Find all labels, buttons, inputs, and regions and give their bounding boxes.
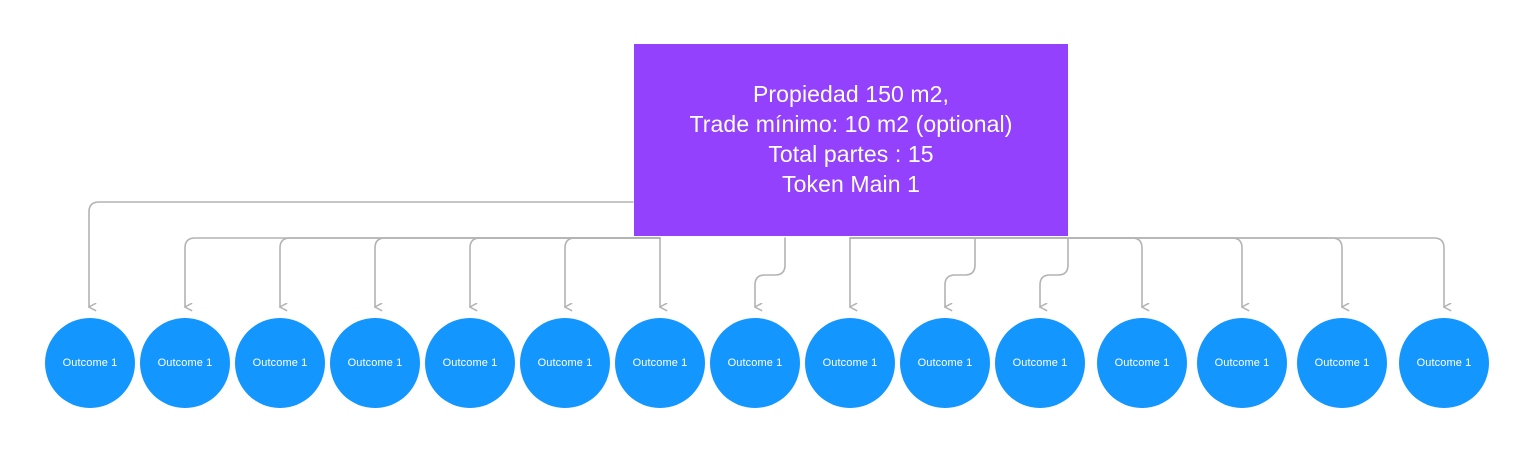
outcome-node-1[interactable]: Outcome 1 xyxy=(45,318,135,408)
outcome-node-15[interactable]: Outcome 1 xyxy=(1399,318,1489,408)
edge-to-outcome-14 xyxy=(850,238,1342,307)
outcome-node-label: Outcome 1 xyxy=(1417,357,1472,369)
outcome-node-label: Outcome 1 xyxy=(1013,357,1068,369)
edge-to-outcome-12 xyxy=(850,238,1142,307)
outcome-node-2[interactable]: Outcome 1 xyxy=(140,318,230,408)
edge-to-outcome-13 xyxy=(850,238,1242,307)
outcome-node-4[interactable]: Outcome 1 xyxy=(330,318,420,408)
edge-to-outcome-8 xyxy=(755,238,785,307)
edge-to-outcome-6 xyxy=(565,238,660,307)
outcome-node-label: Outcome 1 xyxy=(158,357,213,369)
property-token-line-3: Total partes : 15 xyxy=(768,140,933,170)
outcome-node-6[interactable]: Outcome 1 xyxy=(520,318,610,408)
outcome-node-10[interactable]: Outcome 1 xyxy=(900,318,990,408)
outcome-node-label: Outcome 1 xyxy=(443,357,498,369)
outcome-node-label: Outcome 1 xyxy=(1115,357,1170,369)
property-token-node[interactable]: Propiedad 150 m2,Trade mínimo: 10 m2 (op… xyxy=(634,44,1068,236)
outcome-node-label: Outcome 1 xyxy=(1215,357,1270,369)
outcome-node-label: Outcome 1 xyxy=(728,357,783,369)
edge-to-outcome-11 xyxy=(1040,238,1068,307)
outcome-node-label: Outcome 1 xyxy=(823,357,878,369)
outcome-node-12[interactable]: Outcome 1 xyxy=(1097,318,1187,408)
edge-to-outcome-2 xyxy=(185,238,660,307)
outcome-node-11[interactable]: Outcome 1 xyxy=(995,318,1085,408)
property-token-line-2: Trade mínimo: 10 m2 (optional) xyxy=(689,110,1012,140)
outcome-node-5[interactable]: Outcome 1 xyxy=(425,318,515,408)
outcome-node-7[interactable]: Outcome 1 xyxy=(615,318,705,408)
edge-to-outcome-1 xyxy=(89,202,633,307)
outcome-node-13[interactable]: Outcome 1 xyxy=(1197,318,1287,408)
edge-to-outcome-10 xyxy=(945,238,975,307)
outcome-node-label: Outcome 1 xyxy=(538,357,593,369)
outcome-node-label: Outcome 1 xyxy=(1315,357,1370,369)
outcome-node-label: Outcome 1 xyxy=(253,357,308,369)
outcome-node-label: Outcome 1 xyxy=(348,357,403,369)
outcome-node-14[interactable]: Outcome 1 xyxy=(1297,318,1387,408)
property-token-line-1: Propiedad 150 m2, xyxy=(753,80,949,110)
outcome-node-label: Outcome 1 xyxy=(633,357,688,369)
outcome-node-9[interactable]: Outcome 1 xyxy=(805,318,895,408)
outcome-node-label: Outcome 1 xyxy=(918,357,973,369)
edge-to-outcome-15 xyxy=(850,238,1444,307)
outcome-node-3[interactable]: Outcome 1 xyxy=(235,318,325,408)
diagram-canvas: Propiedad 150 m2,Trade mínimo: 10 m2 (op… xyxy=(0,0,1536,453)
edge-to-outcome-4 xyxy=(375,238,660,307)
outcome-node-8[interactable]: Outcome 1 xyxy=(710,318,800,408)
outcome-node-label: Outcome 1 xyxy=(63,357,118,369)
property-token-line-4: Token Main 1 xyxy=(782,170,920,200)
